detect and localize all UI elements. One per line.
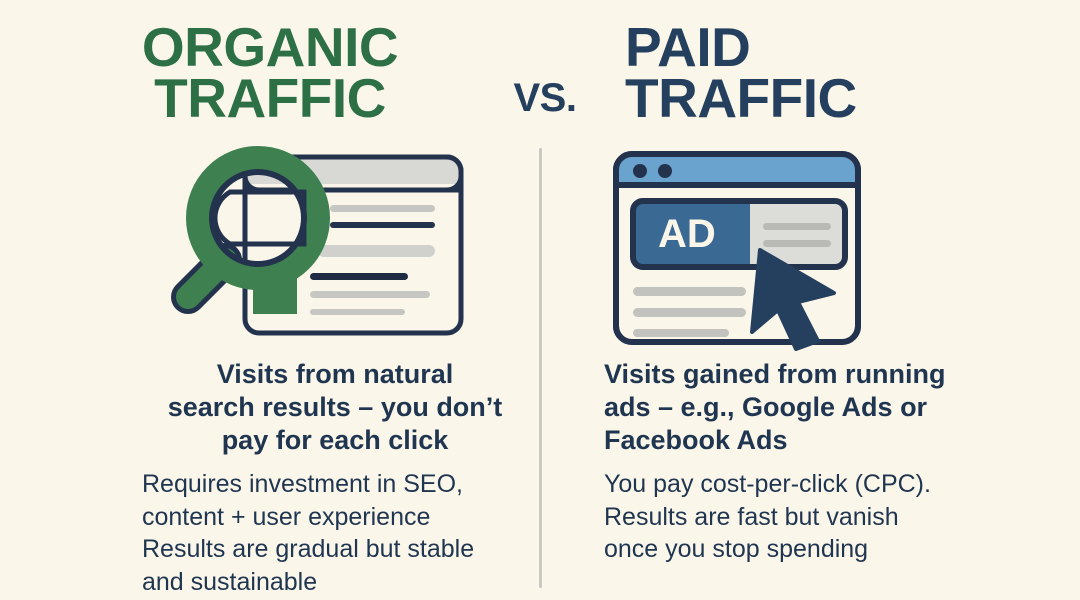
paid-heading-line-1: PAID: [625, 22, 1000, 73]
infographic-root: ORGANIC TRAFFIC VS. PAID TRAFFIC: [0, 0, 1080, 600]
paid-heading: PAID TRAFFIC: [600, 22, 1000, 123]
paid-lead-line-1: Visits gained from running: [604, 358, 1004, 391]
organic-sub-text: Requires investment in SEO, content + us…: [142, 468, 542, 598]
organic-lead-line-3: pay for each click: [130, 424, 540, 457]
paid-sub-text: You pay cost-per-click (CPC). Results ar…: [604, 468, 1004, 566]
versus-label: VS.: [490, 76, 600, 121]
organic-lead-line-2: search results – you don’t: [130, 391, 540, 424]
window-dot-icon: [633, 164, 647, 178]
organic-heading-line-2: TRAFFIC: [60, 73, 480, 124]
paid-heading-line-2: TRAFFIC: [625, 73, 1000, 124]
paid-sub-line-2: Results are fast but vanish: [604, 501, 1004, 534]
organic-lead-text: Visits from natural search results – you…: [130, 358, 540, 457]
paid-lead-line-2: ads – e.g., Google Ads or: [604, 391, 1004, 424]
organic-heading: ORGANIC TRAFFIC: [60, 22, 480, 123]
ad-label: AD: [658, 212, 716, 256]
paid-sub-line-3: once you stop spending: [604, 533, 1004, 566]
paid-lead-line-3: Facebook Ads: [604, 424, 1004, 457]
organic-sub-line-2: content + user experience: [142, 501, 542, 534]
paid-illustration: AD: [600, 140, 880, 360]
window-dot-icon: [658, 164, 672, 178]
paid-sub-line-1: You pay cost-per-click (CPC).: [604, 468, 1004, 501]
organic-sub-line-1: Requires investment in SEO,: [142, 468, 542, 501]
organic-sub-line-3: Results are gradual but stable: [142, 533, 542, 566]
organic-sub-line-4: and sustainable: [142, 566, 542, 599]
organic-heading-line-1: ORGANIC: [60, 22, 480, 73]
ad-banner: AD: [633, 201, 845, 267]
paid-lead-text: Visits gained from running ads – e.g., G…: [604, 358, 1004, 457]
organic-lead-line-1: Visits from natural: [130, 358, 540, 391]
organic-illustration: [170, 145, 480, 360]
